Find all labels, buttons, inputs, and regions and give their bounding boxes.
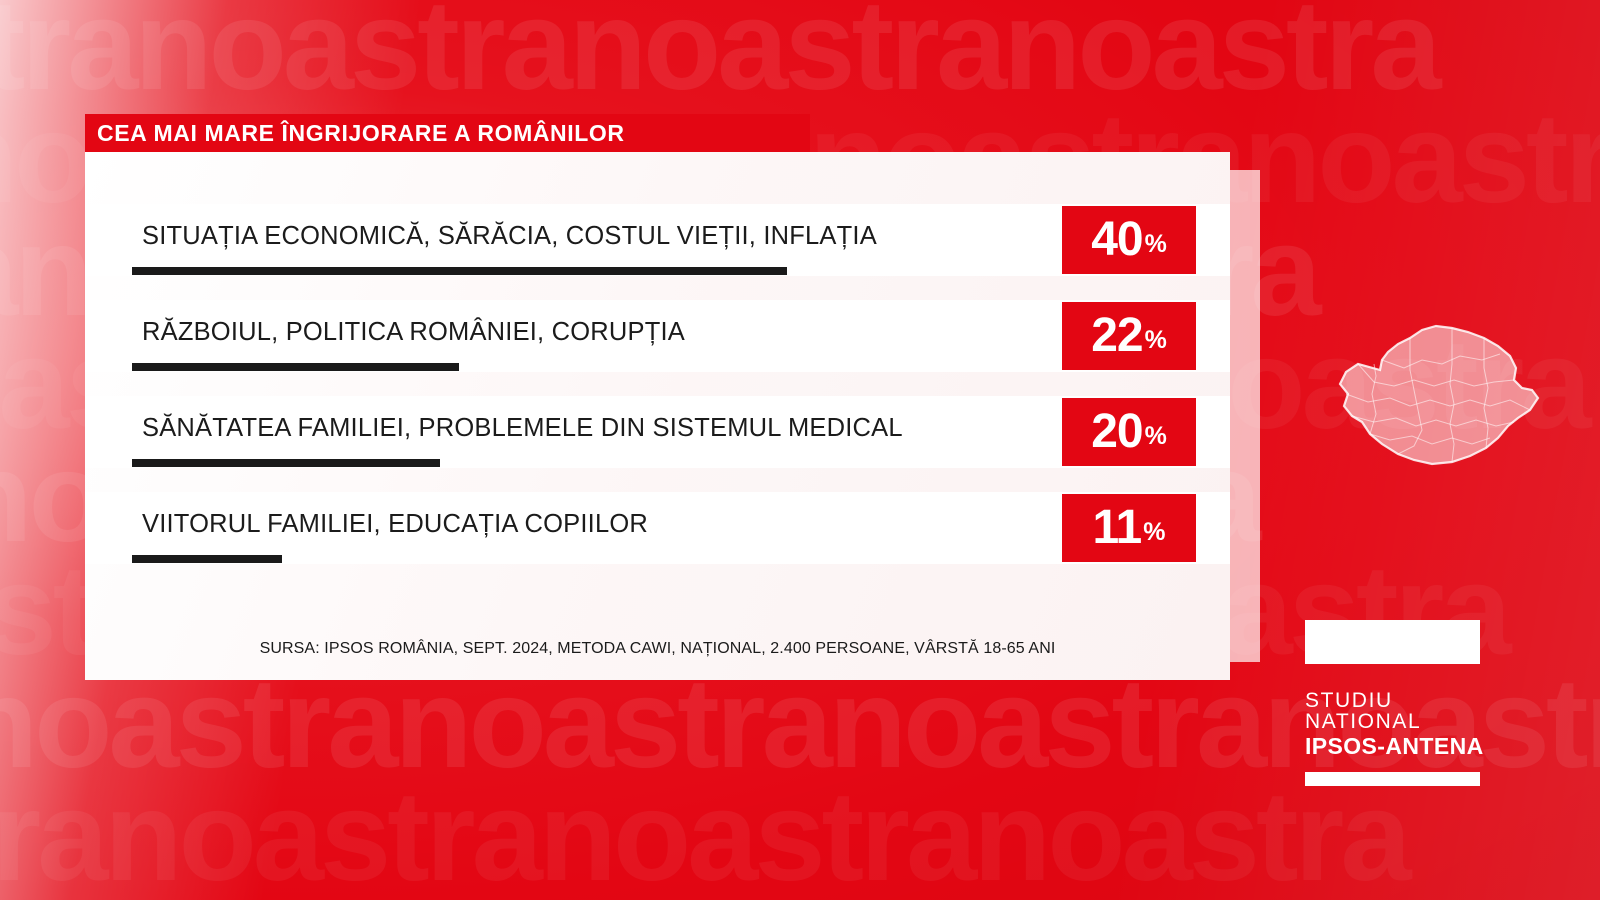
row-label: SĂNĂTATEA FAMILIEI, PROBLEMELE DIN SISTE… <box>142 414 903 443</box>
table-row: SITUAȚIA ECONOMICĂ, SĂRĂCIA, COSTUL VIEȚ… <box>85 196 1230 292</box>
badge-value: 40 <box>1091 216 1142 264</box>
logo-line-studiu: STUDIU <box>1305 690 1485 711</box>
watermark-row: noastranoastranoastranoastra <box>0 773 1408 900</box>
percent-symbol: % <box>1145 424 1167 449</box>
badge-value: 11 <box>1093 504 1142 552</box>
table-row: VIITORUL FAMILIEI, EDUCAȚIA COPIILOR 11 … <box>85 484 1230 580</box>
status-badge: 22 % <box>1062 302 1196 370</box>
percent-symbol: % <box>1145 328 1167 353</box>
status-badge: 20 % <box>1062 398 1196 466</box>
row-value-bar <box>132 555 282 563</box>
percent-symbol: % <box>1143 520 1165 545</box>
badge-value: 20 <box>1091 408 1142 456</box>
table-row: SĂNĂTATEA FAMILIEI, PROBLEMELE DIN SISTE… <box>85 388 1230 484</box>
watermark-row: noastranoastranoastranoastra <box>0 0 1438 110</box>
chart-rows: SITUAȚIA ECONOMICĂ, SĂRĂCIA, COSTUL VIEȚ… <box>85 196 1230 580</box>
chart-title-bar: CEA MAI MARE ÎNGRIJORARE A ROMÂNILOR <box>85 114 810 153</box>
row-value-bar <box>132 267 787 275</box>
row-value-bar <box>132 459 440 467</box>
logo-plate <box>1305 620 1480 664</box>
row-label: RĂZBOIUL, POLITICA ROMÂNIEI, CORUPȚIA <box>142 318 685 347</box>
source-note: SURSA: IPSOS ROMÂNIA, SEPT. 2024, METODA… <box>85 640 1230 658</box>
row-value-bar <box>132 363 459 371</box>
table-row: RĂZBOIUL, POLITICA ROMÂNIEI, CORUPȚIA 22… <box>85 292 1230 388</box>
logo-text: STUDIU NATIONAL IPSOS-ANTENA <box>1305 690 1485 758</box>
status-badge: 40 % <box>1062 206 1196 274</box>
row-label: SITUAȚIA ECONOMICĂ, SĂRĂCIA, COSTUL VIEȚ… <box>142 222 877 251</box>
logo-underbar <box>1305 772 1480 786</box>
logo-line-national: NATIONAL <box>1305 711 1485 732</box>
badge-value: 22 <box>1091 312 1142 360</box>
infographic-canvas: noastranoastranoastranoastra noastranoas… <box>0 0 1600 900</box>
page-title: CEA MAI MARE ÎNGRIJORARE A ROMÂNILOR <box>97 120 625 147</box>
percent-symbol: % <box>1145 232 1167 257</box>
row-label: VIITORUL FAMILIEI, EDUCAȚIA COPIILOR <box>142 510 648 539</box>
study-logo: STUDIU NATIONAL IPSOS-ANTENA <box>1305 620 1485 786</box>
logo-line-ipsos-antena: IPSOS-ANTENA <box>1305 735 1485 758</box>
romania-map-icon <box>1318 298 1550 478</box>
status-badge: 11 % <box>1062 494 1196 562</box>
